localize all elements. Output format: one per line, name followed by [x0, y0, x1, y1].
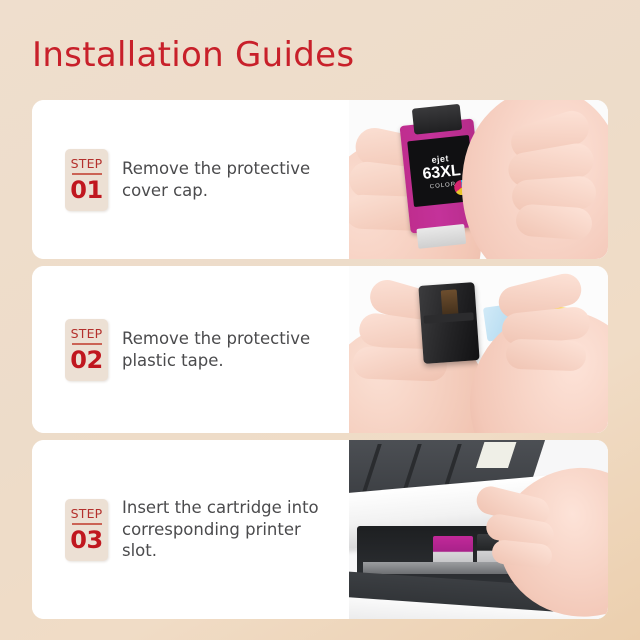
tray-slot — [361, 444, 382, 496]
hands-peeling-plastic-tape-illustration — [349, 266, 608, 433]
step-card-01[interactable]: STEP 01 Remove the protective cover cap. — [32, 100, 608, 259]
step-description-01: Remove the protective cover cap. — [122, 158, 332, 202]
step-badge-03: STEP 03 — [65, 499, 108, 561]
page-title: Installation Guides — [32, 35, 354, 75]
step-badge-word: STEP — [71, 328, 103, 341]
right-finger-shape — [506, 339, 587, 372]
steps-list: STEP 01 Remove the protective cover cap. — [32, 100, 608, 626]
black-ink-cartridge — [418, 282, 479, 364]
step-badge-divider — [72, 523, 102, 525]
step-card-02-content: STEP 02 Remove the protective plastic ta… — [32, 266, 349, 433]
step-card-01-content: STEP 01 Remove the protective cover cap. — [32, 100, 349, 259]
cartridge-kind-text: COLOR — [430, 181, 457, 190]
step-description-03: Insert the cartridge into corresponding … — [122, 497, 332, 563]
right-finger-shape — [515, 203, 593, 240]
step-badge-divider — [72, 173, 102, 175]
step-badge-word: STEP — [71, 158, 103, 171]
cartridge-brand-text: ejet — [431, 153, 449, 165]
step-badge-divider — [72, 343, 102, 345]
cartridge-model-text: 63XL — [422, 163, 462, 183]
printer-cartridge-slot-illustration — [349, 440, 608, 619]
cartridge-protective-cap — [412, 104, 462, 135]
step-image-02 — [349, 266, 608, 433]
step-card-03-content: STEP 03 Insert the cartridge into corres… — [32, 440, 349, 619]
step-badge-number: 01 — [70, 178, 102, 202]
step-card-03[interactable]: STEP 03 Insert the cartridge into corres… — [32, 440, 608, 619]
step-badge-word: STEP — [71, 508, 103, 521]
step-image-03 — [349, 440, 608, 619]
step-card-02[interactable]: STEP 02 Remove the protective plastic ta… — [32, 266, 608, 433]
step-description-02: Remove the protective plastic tape. — [122, 328, 332, 372]
step-image-01: ejet 63XL COLOR — [349, 100, 608, 259]
step-badge-number: 02 — [70, 348, 102, 372]
tray-paper-sheet — [476, 442, 516, 468]
hands-holding-color-cartridge-illustration: ejet 63XL COLOR — [349, 100, 608, 259]
installation-guides-page: Installation Guides STEP 01 Remove the p… — [0, 0, 640, 640]
step-badge-number: 03 — [70, 528, 102, 552]
step-badge-01: STEP 01 — [65, 149, 108, 211]
step-badge-02: STEP 02 — [65, 319, 108, 381]
